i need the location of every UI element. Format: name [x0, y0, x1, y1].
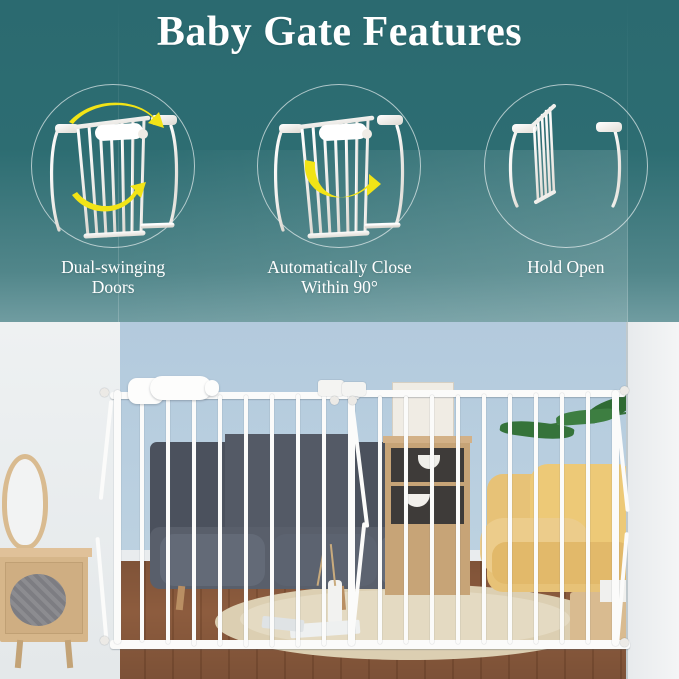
feature-caption-line2: Doors: [1, 278, 225, 298]
gate-hinge-screw[interactable]: [348, 396, 357, 405]
feature-dual-swinging-doors: Dual-swinging Doors: [13, 84, 213, 299]
gate-hinge-screw[interactable]: [330, 396, 339, 405]
feature-automatically-close: Automatically Close Within 90°: [239, 84, 439, 299]
gate-bar: [322, 393, 326, 646]
gate-bar: [166, 396, 170, 644]
gate-bar: [140, 396, 144, 642]
gate-bar: [296, 394, 300, 647]
gate-bar: [244, 395, 248, 647]
feature-caption: Dual-swinging Doors: [1, 258, 225, 297]
gate-handle-cap[interactable]: [205, 380, 219, 396]
gate-extension-bar: [586, 392, 590, 644]
baby-gate-hold-open-icon: [484, 84, 648, 248]
feature-caption: Automatically Close Within 90°: [227, 258, 451, 297]
feature-caption: Hold Open: [454, 258, 678, 278]
installed-baby-gate: [0, 322, 679, 679]
gate-extension-bar: [482, 394, 486, 644]
gate-handle[interactable]: [150, 376, 212, 400]
gate-bar: [270, 394, 274, 647]
gate-extension-bar: [534, 393, 538, 644]
gate-extension-bar: [430, 395, 434, 644]
gate-mount-screw-top-right[interactable]: [620, 386, 629, 395]
gate-hinge-upper-2: [342, 382, 366, 396]
feature-caption-line1: Dual-swinging: [1, 258, 225, 278]
gate-extension-bar: [456, 395, 460, 644]
gate-left-post: [114, 390, 121, 644]
gate-left-brace-upper: [99, 400, 113, 500]
feature-caption-line1: Hold Open: [454, 258, 678, 278]
feature-caption-line2: Within 90°: [227, 278, 451, 298]
gate-left-brace-lower: [95, 537, 108, 642]
gate-extension-bar: [404, 396, 408, 644]
feature-list: Dual-swinging Doors: [0, 84, 679, 299]
gate-bar: [218, 395, 222, 646]
gate-extension-bar: [378, 396, 382, 644]
gate-extension-bar: [508, 394, 512, 644]
baby-gate-dual-swing-icon: [31, 84, 195, 248]
gate-mount-screw-bottom-right[interactable]: [620, 638, 629, 647]
feature-hold-open: Hold Open: [466, 84, 666, 299]
baby-gate-auto-close-icon: [257, 84, 421, 248]
gate-bar: [192, 396, 196, 646]
product-infographic: Baby Gate Features: [0, 0, 679, 679]
feature-caption-line1: Automatically Close: [227, 258, 451, 278]
gate-bottom-rail: [110, 640, 630, 649]
gate-extension-bar: [560, 393, 564, 644]
page-title: Baby Gate Features: [0, 9, 679, 55]
gate-mount-screw-top-left[interactable]: [100, 388, 109, 397]
gate-mount-screw-bottom-left[interactable]: [100, 636, 109, 645]
gate-hinge-upper: [318, 380, 344, 396]
